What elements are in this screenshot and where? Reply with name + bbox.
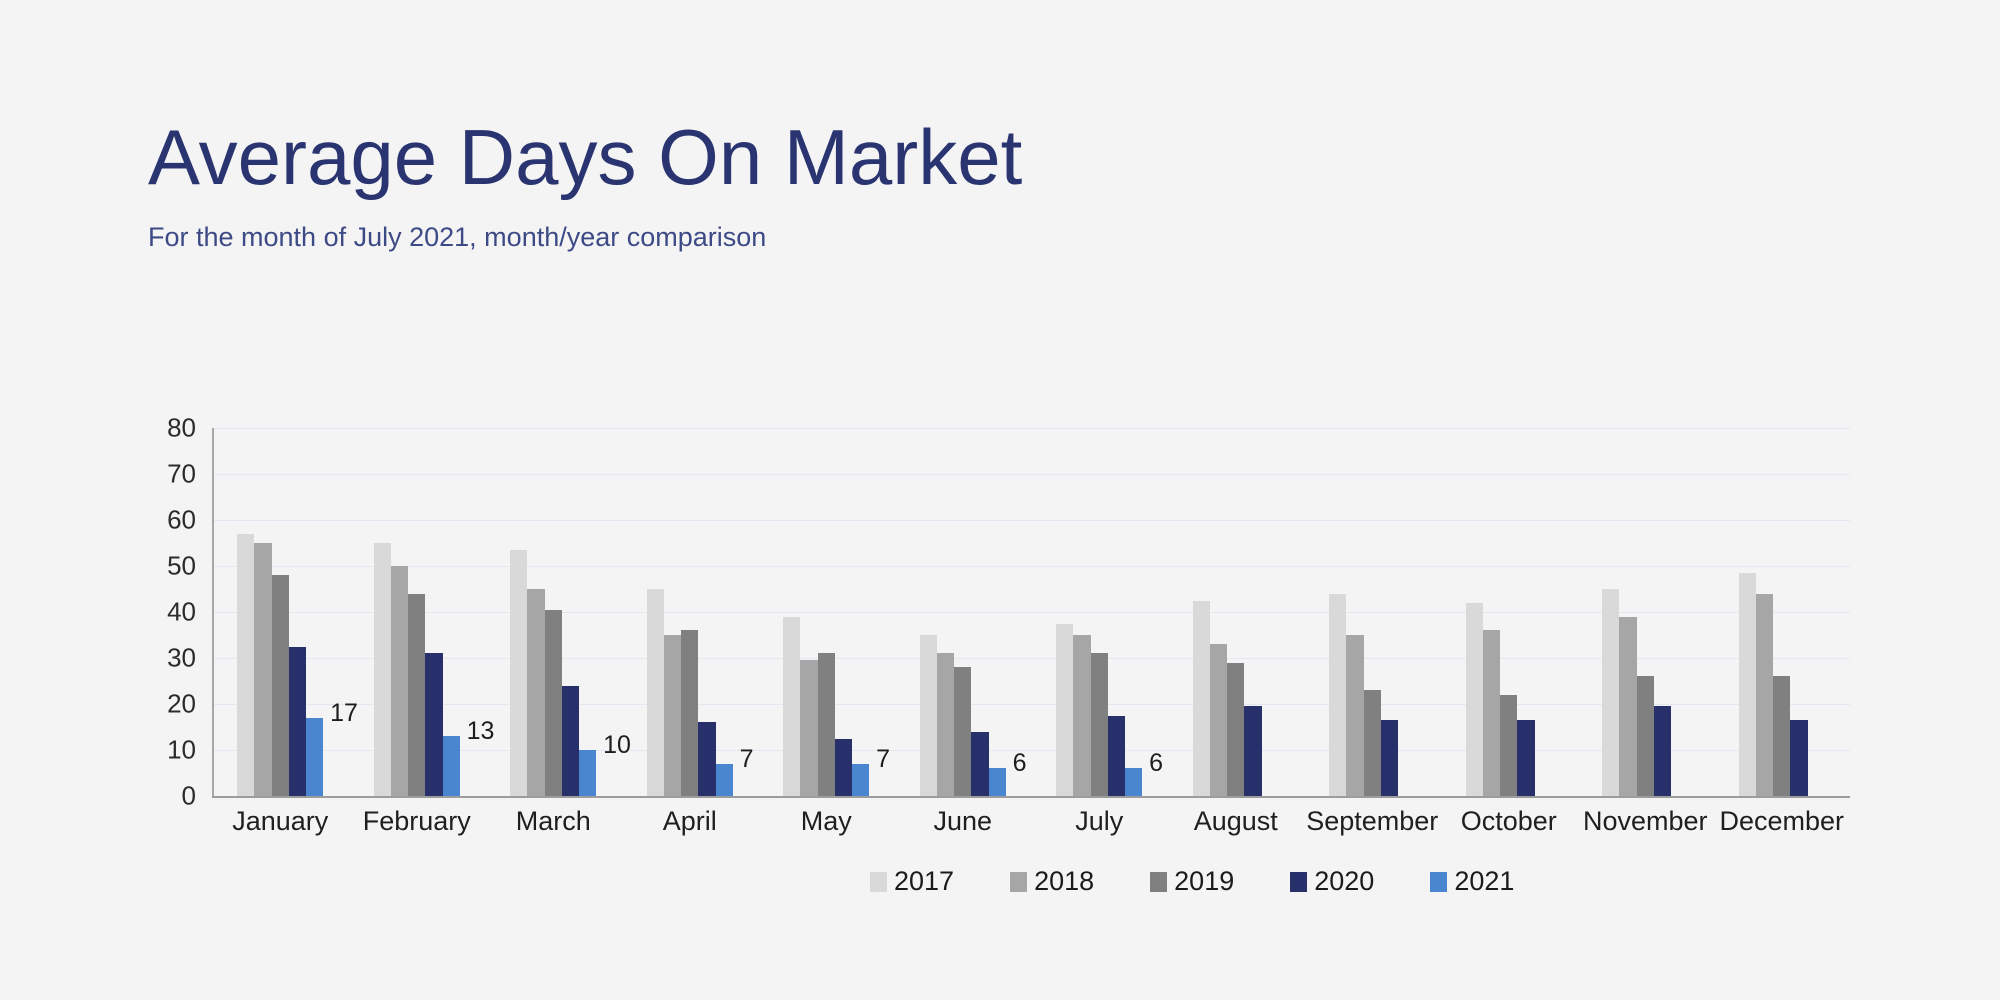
bar-2017[interactable]	[1466, 603, 1483, 796]
bar-group-bars: 7	[783, 428, 869, 796]
bar-2019[interactable]	[681, 630, 698, 796]
bar-group-bars: 10	[510, 428, 596, 796]
x-axis-label: May	[758, 806, 895, 837]
bar-2018[interactable]	[1619, 617, 1636, 796]
bar-2019[interactable]	[1364, 690, 1381, 796]
bar-group	[1304, 428, 1441, 796]
chart-legend: 20172018201920202021	[870, 868, 1514, 895]
bar-2020[interactable]	[1790, 720, 1807, 796]
plot-area: 1713107766	[212, 428, 1850, 798]
bar-group: 6	[1031, 428, 1168, 796]
bar-2019[interactable]	[545, 610, 562, 796]
bar-2021[interactable]: 7	[852, 764, 869, 796]
bar-group-bars	[1329, 428, 1415, 796]
bar-group-bars	[1193, 428, 1279, 796]
bar-value-label: 7	[876, 747, 890, 772]
bar-groups: 1713107766	[212, 428, 1850, 796]
bar-2018[interactable]	[937, 653, 954, 796]
bar-2020[interactable]	[1108, 716, 1125, 797]
bar-group: 13	[349, 428, 486, 796]
bar-2017[interactable]	[237, 534, 254, 796]
bar-2017[interactable]	[510, 550, 527, 796]
bar-2017[interactable]	[647, 589, 664, 796]
y-axis-tick: 20	[167, 689, 196, 720]
legend-swatch-icon	[1430, 872, 1447, 892]
bar-2019[interactable]	[1637, 676, 1654, 796]
bar-group: 6	[895, 428, 1032, 796]
bar-2018[interactable]	[1756, 594, 1773, 796]
bar-2019[interactable]	[1091, 653, 1108, 796]
bar-2017[interactable]	[374, 543, 391, 796]
x-axis-label: January	[212, 806, 349, 837]
x-axis-label: December	[1714, 806, 1851, 837]
bar-2018[interactable]	[254, 543, 271, 796]
legend-swatch-icon	[1010, 872, 1027, 892]
bar-group-bars: 17	[237, 428, 323, 796]
bar-2018[interactable]	[391, 566, 408, 796]
chart-header: Average Days On Market For the month of …	[148, 118, 1348, 253]
bar-group-bars	[1739, 428, 1825, 796]
bar-2018[interactable]	[1346, 635, 1363, 796]
legend-item-2018[interactable]: 2018	[1010, 868, 1094, 895]
y-axis-tick: 0	[182, 781, 196, 812]
x-axis-label: June	[895, 806, 1032, 837]
bar-2017[interactable]	[1056, 624, 1073, 797]
bar-2020[interactable]	[835, 739, 852, 797]
bar-group-bars: 13	[374, 428, 460, 796]
bar-2020[interactable]	[1517, 720, 1534, 796]
bar-value-label: 7	[740, 747, 754, 772]
x-axis-label: February	[349, 806, 486, 837]
bar-2020[interactable]	[1381, 720, 1398, 796]
x-axis-label: March	[485, 806, 622, 837]
bar-group-bars: 7	[647, 428, 733, 796]
bar-2020[interactable]	[289, 647, 306, 797]
bar-2019[interactable]	[954, 667, 971, 796]
bar-group-bars	[1602, 428, 1688, 796]
bar-2019[interactable]	[1227, 663, 1244, 796]
legend-label: 2020	[1314, 868, 1374, 895]
bar-2019[interactable]	[818, 653, 835, 796]
legend-swatch-icon	[1150, 872, 1167, 892]
bar-2020[interactable]	[971, 732, 988, 796]
x-axis-label: August	[1168, 806, 1305, 837]
bar-2021[interactable]: 17	[306, 718, 323, 796]
bar-group-bars: 6	[920, 428, 1006, 796]
y-axis-tick: 50	[167, 551, 196, 582]
x-axis-labels: JanuaryFebruaryMarchAprilMayJuneJulyAugu…	[212, 806, 1850, 837]
bar-2017[interactable]	[1193, 601, 1210, 797]
legend-item-2020[interactable]: 2020	[1290, 868, 1374, 895]
bar-value-label: 6	[1149, 751, 1163, 776]
legend-swatch-icon	[870, 872, 887, 892]
y-axis-tick: 40	[167, 597, 196, 628]
bar-2020[interactable]	[698, 722, 715, 796]
bar-2019[interactable]	[272, 575, 289, 796]
bar-value-label: 6	[1013, 751, 1027, 776]
legend-item-2021[interactable]: 2021	[1430, 868, 1514, 895]
y-axis-tick: 60	[167, 505, 196, 536]
y-axis-tick: 30	[167, 643, 196, 674]
bar-2018[interactable]	[1483, 630, 1500, 796]
bar-2018[interactable]	[664, 635, 681, 796]
x-axis-label: October	[1441, 806, 1578, 837]
page-subtitle: For the month of July 2021, month/year c…	[148, 196, 1348, 253]
legend-label: 2018	[1034, 868, 1094, 895]
legend-label: 2017	[894, 868, 954, 895]
bar-group-bars: 6	[1056, 428, 1142, 796]
legend-item-2017[interactable]: 2017	[870, 868, 954, 895]
bar-2019[interactable]	[1773, 676, 1790, 796]
y-axis: 01020304050607080	[150, 428, 202, 798]
y-axis-tick: 70	[167, 459, 196, 490]
bar-2021[interactable]: 7	[716, 764, 733, 796]
bar-2018[interactable]	[1073, 635, 1090, 796]
legend-label: 2021	[1454, 868, 1514, 895]
x-axis-label: November	[1577, 806, 1714, 837]
y-axis-tick: 80	[167, 413, 196, 444]
x-axis-label: April	[622, 806, 759, 837]
y-axis-tick: 10	[167, 735, 196, 766]
bar-2020[interactable]	[425, 653, 442, 796]
bar-2017[interactable]	[783, 617, 800, 796]
bar-2021[interactable]: 10	[579, 750, 596, 796]
bar-2021[interactable]: 13	[443, 736, 460, 796]
bar-group-bars	[1466, 428, 1552, 796]
bar-2018[interactable]	[527, 589, 544, 796]
bar-2020[interactable]	[1654, 706, 1671, 796]
bar-2017[interactable]	[1739, 573, 1756, 796]
legend-item-2019[interactable]: 2019	[1150, 868, 1234, 895]
page-title: Average Days On Market	[148, 118, 1348, 196]
bar-2019[interactable]	[408, 594, 425, 796]
bar-group	[1168, 428, 1305, 796]
bar-group	[1714, 428, 1851, 796]
bar-group: 10	[485, 428, 622, 796]
bar-chart: 01020304050607080 1713107766 JanuaryFebr…	[150, 428, 1850, 798]
legend-swatch-icon	[1290, 872, 1307, 892]
bar-2021[interactable]: 6	[989, 768, 1006, 796]
bar-2017[interactable]	[1329, 594, 1346, 796]
bar-2019[interactable]	[1500, 695, 1517, 796]
bar-2021[interactable]: 6	[1125, 768, 1142, 796]
bar-2020[interactable]	[562, 686, 579, 796]
bar-2018[interactable]	[1210, 644, 1227, 796]
bar-group: 7	[758, 428, 895, 796]
bar-2017[interactable]	[1602, 589, 1619, 796]
bar-2018[interactable]	[800, 660, 817, 796]
x-axis-label: July	[1031, 806, 1168, 837]
bar-2020[interactable]	[1244, 706, 1261, 796]
bar-group	[1441, 428, 1578, 796]
legend-label: 2019	[1174, 868, 1234, 895]
x-axis-label: September	[1304, 806, 1441, 837]
bar-2017[interactable]	[920, 635, 937, 796]
x-axis-line	[212, 796, 1850, 798]
bar-group: 7	[622, 428, 759, 796]
bar-group	[1577, 428, 1714, 796]
bar-group: 17	[212, 428, 349, 796]
